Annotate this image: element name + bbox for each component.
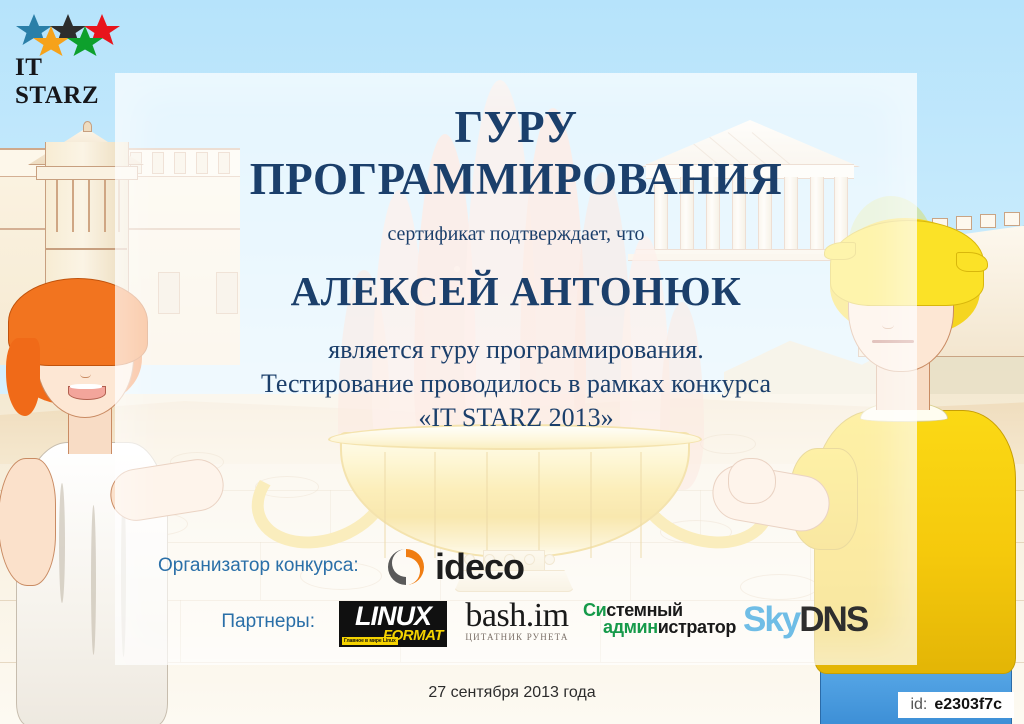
id-value: e2303f7c bbox=[934, 696, 1002, 714]
bash-im-tagline: ЦИТАТНИК РУНЕТА bbox=[453, 632, 581, 642]
partners-label: Партнеры: bbox=[115, 611, 315, 633]
partner-linux-format[interactable]: LINUX FORMAT Главное в мире Linux bbox=[339, 601, 447, 647]
partner-bash-im[interactable]: bash.im ЦИТАТНИК РУНЕТА bbox=[453, 599, 581, 647]
woman-teeth bbox=[70, 384, 102, 389]
certificate-title-line2: ПРОГРАММИРОВАНИЯ bbox=[115, 157, 917, 202]
partner-skydns[interactable]: SkyDNS bbox=[743, 597, 867, 643]
sa-row2-green: админ bbox=[603, 617, 658, 637]
sa-row2-black: истратор bbox=[658, 617, 736, 637]
organizer-row: Организатор конкурса: ideco bbox=[115, 543, 917, 591]
certificate-subtitle: сертификат подтверждает, что bbox=[115, 223, 917, 246]
certificate-body-line1: является гуру программирования. bbox=[115, 335, 917, 364]
certificate-content: ГУРУ ПРОГРАММИРОВАНИЯ сертификат подтвер… bbox=[115, 73, 917, 665]
organizer-label: Организатор конкурса: bbox=[158, 555, 359, 577]
certificate-body-line3: «IT STARZ 2013» bbox=[115, 403, 917, 432]
it-starz-logo[interactable]: IT STARZ bbox=[14, 12, 124, 78]
certificate-date: 27 сентября 2013 года bbox=[0, 684, 1024, 702]
tower-finial bbox=[83, 121, 92, 132]
bash-im-wordmark: bash.im bbox=[453, 597, 581, 635]
ideco-logo[interactable]: ideco bbox=[385, 543, 524, 591]
woman-shoulder bbox=[0, 458, 56, 586]
ideco-wordmark: ideco bbox=[435, 546, 524, 588]
partners-row: Партнеры: LINUX FORMAT Главное в мире Li… bbox=[115, 595, 917, 651]
woman-sideburn bbox=[6, 338, 40, 416]
skydns-part1: Sky bbox=[743, 600, 799, 639]
sa-row2: администратор bbox=[603, 618, 736, 637]
skydns-part2: DNS bbox=[799, 600, 867, 639]
linux-format-tagline: Главное в мире Linux bbox=[342, 637, 398, 645]
woman-nose bbox=[80, 368, 91, 378]
certificate-canvas: IT STARZ ГУРУ ПРОГРАММИРОВАНИЯ сертифика… bbox=[0, 0, 1024, 724]
ideco-ring-icon bbox=[385, 546, 427, 588]
id-label: id: bbox=[910, 696, 927, 714]
logo-stars-group bbox=[14, 12, 126, 56]
linux-format-main: LINUX bbox=[343, 602, 443, 630]
partner-sistemny-administrator[interactable]: Системный администратор bbox=[583, 601, 741, 645]
certificate-id-badge: id: e2303f7c bbox=[898, 692, 1014, 718]
logo-wordmark: IT STARZ bbox=[15, 54, 124, 110]
certificate-title-line1: ГУРУ bbox=[115, 105, 917, 150]
certificate-body-line2: Тестирование проводилось в рамках конкур… bbox=[115, 369, 917, 398]
recipient-name: АЛЕКСЕЙ АНТОНЮК bbox=[115, 267, 917, 315]
